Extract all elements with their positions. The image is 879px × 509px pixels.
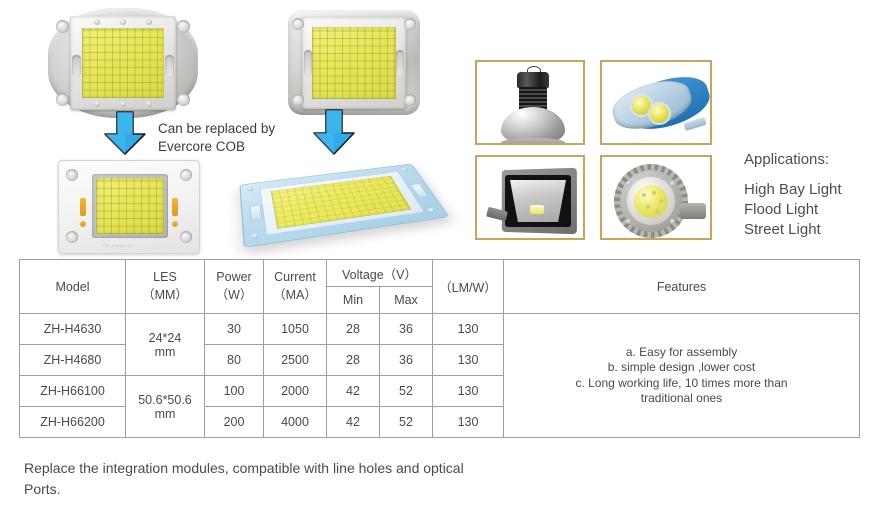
street-light-photo [600,60,712,145]
explosion-proof-conduit [680,203,706,219]
cell-current: 2500 [264,345,327,376]
header-current: Current （MA） [264,260,327,314]
mounting-hole [56,20,69,33]
cell-power: 30 [205,314,264,345]
led-side-slot [396,50,404,76]
led-pin [94,19,100,25]
flood-light-photo [475,155,585,240]
high-bay-rim [501,138,565,143]
led-dot [652,191,656,195]
cell-vmax: 52 [380,407,433,438]
original-led-module-large [48,8,198,118]
cell-current: 1050 [264,314,327,345]
cell-lmw: 130 [433,407,504,438]
mounting-hole [292,18,304,30]
application-item-flood: Flood Light [744,200,842,220]
mounting-hole [427,208,437,213]
solder-pad [172,221,178,227]
mounting-hole [66,231,78,243]
header-voltage: Voltage（V） [327,260,433,287]
cell-les: 50.6*50.6 mm [126,376,205,438]
header-features: Features [504,260,860,314]
solder-pad [80,198,86,216]
housing-screw [670,219,675,224]
housing-screw [626,181,631,186]
header-les: LES （MM） [126,260,205,314]
led-phosphor-area [82,28,164,98]
cob-side-slot [249,205,263,221]
cell-model: ZH-H66100 [20,376,126,407]
led-pin [146,19,152,25]
led-pin [120,19,126,25]
mounting-hole [66,169,78,181]
cell-lmw: 130 [433,345,504,376]
down-arrow-left [100,110,150,156]
cell-current: 4000 [264,407,327,438]
table-row: ZH-H4630 24*24 mm 30 1050 28 36 130 a. E… [20,314,860,345]
footnote-text: Replace the integration modules, compati… [24,458,664,500]
cob-part-code: CB-4H626-33-J [103,243,136,248]
header-power: Power （W） [205,260,264,314]
cell-lmw: 130 [433,376,504,407]
original-led-module-square [288,10,420,115]
mounting-hole [177,20,190,33]
cell-power: 100 [205,376,264,407]
housing-screw [626,219,631,224]
led-side-slot [304,50,312,76]
mounting-hole [400,168,408,172]
specification-table: Model LES （MM） Power （W） Current （MA） Vo… [19,259,860,438]
cell-vmin: 28 [327,345,380,376]
evercore-cob-blue [243,150,435,250]
led-pin [146,101,152,107]
led-dot [655,209,659,213]
led-phosphor-area [312,27,396,99]
led-side-slot [72,55,81,77]
mounting-hole [180,231,192,243]
application-item-street: Street Light [744,220,842,240]
cell-vmax: 52 [380,376,433,407]
mounting-hole [177,93,190,106]
cell-vmax: 36 [380,345,433,376]
explosion-proof-light-photo [600,155,712,240]
cell-power: 80 [205,345,264,376]
cell-current: 2000 [264,376,327,407]
evercore-cob-white: CB-4H626-33-J [58,160,200,254]
cell-lmw: 130 [433,314,504,345]
header-voltage-min: Min [327,287,380,314]
header-voltage-max: Max [380,287,433,314]
cell-vmin: 42 [327,376,380,407]
mounting-hole [404,94,416,106]
flood-light-reflector [510,180,566,222]
mounting-hole [251,233,259,239]
led-side-slot [165,55,174,77]
led-dot [659,199,663,203]
led-dot [642,193,646,197]
applications-title: Applications: [744,151,829,168]
cell-model: ZH-H66200 [20,407,126,438]
solder-pad [172,198,178,216]
mounting-hole [292,94,304,106]
cell-model: ZH-H4680 [20,345,126,376]
header-model: Model [20,260,126,314]
cell-les: 24*24 mm [126,314,205,376]
mounting-hole [404,18,416,30]
high-bay-light-photo [475,60,585,145]
street-light-led-module [648,102,671,125]
mounting-hole [246,187,253,192]
application-item-high-bay: High Bay Light [744,180,842,200]
mounting-hole [56,93,69,106]
flood-light-cob-chip [530,205,544,214]
cob-blue-board [239,164,449,248]
high-bay-cap [517,72,549,88]
cob-phosphor-area [96,178,164,234]
product-spec-sheet: Can be replaced by Evercore COB CB-4H626… [0,0,879,509]
cell-vmin: 28 [327,314,380,345]
led-pin [94,101,100,107]
table-header-row: Model LES （MM） Power （W） Current （MA） Vo… [20,260,860,287]
mounting-hole [180,169,192,181]
header-lmw: （LM/W） [433,260,504,314]
housing-screw [670,181,675,186]
cell-features: a. Easy for assembly b. simple design ,l… [504,314,860,438]
cell-vmin: 42 [327,407,380,438]
cell-power: 200 [205,407,264,438]
led-dot [646,205,650,209]
cell-vmax: 36 [380,314,433,345]
solder-pad [80,221,86,227]
led-pin [120,101,126,107]
applications-list: High Bay Light Flood Light Street Light [744,180,842,240]
cell-model: ZH-H4630 [20,314,126,345]
